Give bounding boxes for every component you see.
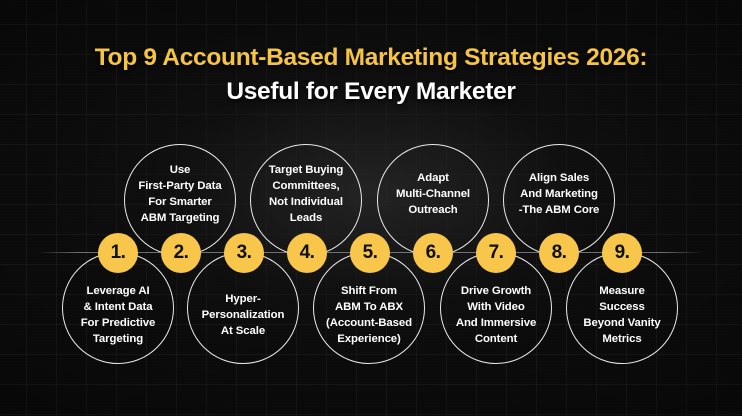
- title-primary-line: Top 9 Account-Based Marketing Strategies…: [0, 42, 742, 74]
- number-badge-label-2: 2.: [174, 243, 189, 262]
- number-badge-label-9: 9.: [615, 243, 630, 262]
- number-badge-8: 8.: [539, 233, 579, 273]
- strategy-label-4: Target Buying Committees, Not Individual…: [254, 162, 358, 227]
- strategy-label-5: Shift From ABM To ABX (Account-Based Exp…: [317, 283, 421, 348]
- number-badge-label-5: 5.: [363, 243, 378, 262]
- number-badge-6: 6.: [413, 233, 453, 273]
- number-badge-label-8: 8.: [552, 243, 567, 262]
- number-badge-label-4: 4.: [300, 243, 315, 262]
- strategy-label-3: Hyper- Personalization At Scale: [191, 291, 295, 340]
- title-secondary-line: Useful for Every Marketer: [0, 76, 742, 108]
- number-badge-3: 3.: [224, 233, 264, 273]
- strategy-label-6: Adapt Multi-Channel Outreach: [381, 170, 485, 219]
- number-badge-label-1: 1.: [111, 243, 126, 262]
- strategy-label-9: Measure Success Beyond Vanity Metrics: [570, 283, 674, 348]
- page-title: Top 9 Account-Based Marketing Strategies…: [0, 42, 742, 108]
- number-badge-label-6: 6.: [426, 243, 441, 262]
- strategy-label-1: Leverage AI & Intent Data For Predictive…: [66, 283, 170, 348]
- number-badge-5: 5.: [350, 233, 390, 273]
- strategy-label-7: Drive Growth With Video And Immersive Co…: [444, 283, 548, 348]
- number-badge-2: 2.: [161, 233, 201, 273]
- number-badge-9: 9.: [602, 233, 642, 273]
- infographic-canvas: Top 9 Account-Based Marketing Strategies…: [0, 0, 742, 416]
- number-badge-label-7: 7.: [489, 243, 504, 262]
- number-badge-4: 4.: [287, 233, 327, 273]
- number-badge-1: 1.: [98, 233, 138, 273]
- strategy-label-2: Use First-Party Data For Smarter ABM Tar…: [128, 162, 232, 227]
- number-badge-7: 7.: [476, 233, 516, 273]
- number-badge-label-3: 3.: [237, 243, 252, 262]
- strategy-label-8: Align Sales And Marketing -The ABM Core: [507, 170, 611, 219]
